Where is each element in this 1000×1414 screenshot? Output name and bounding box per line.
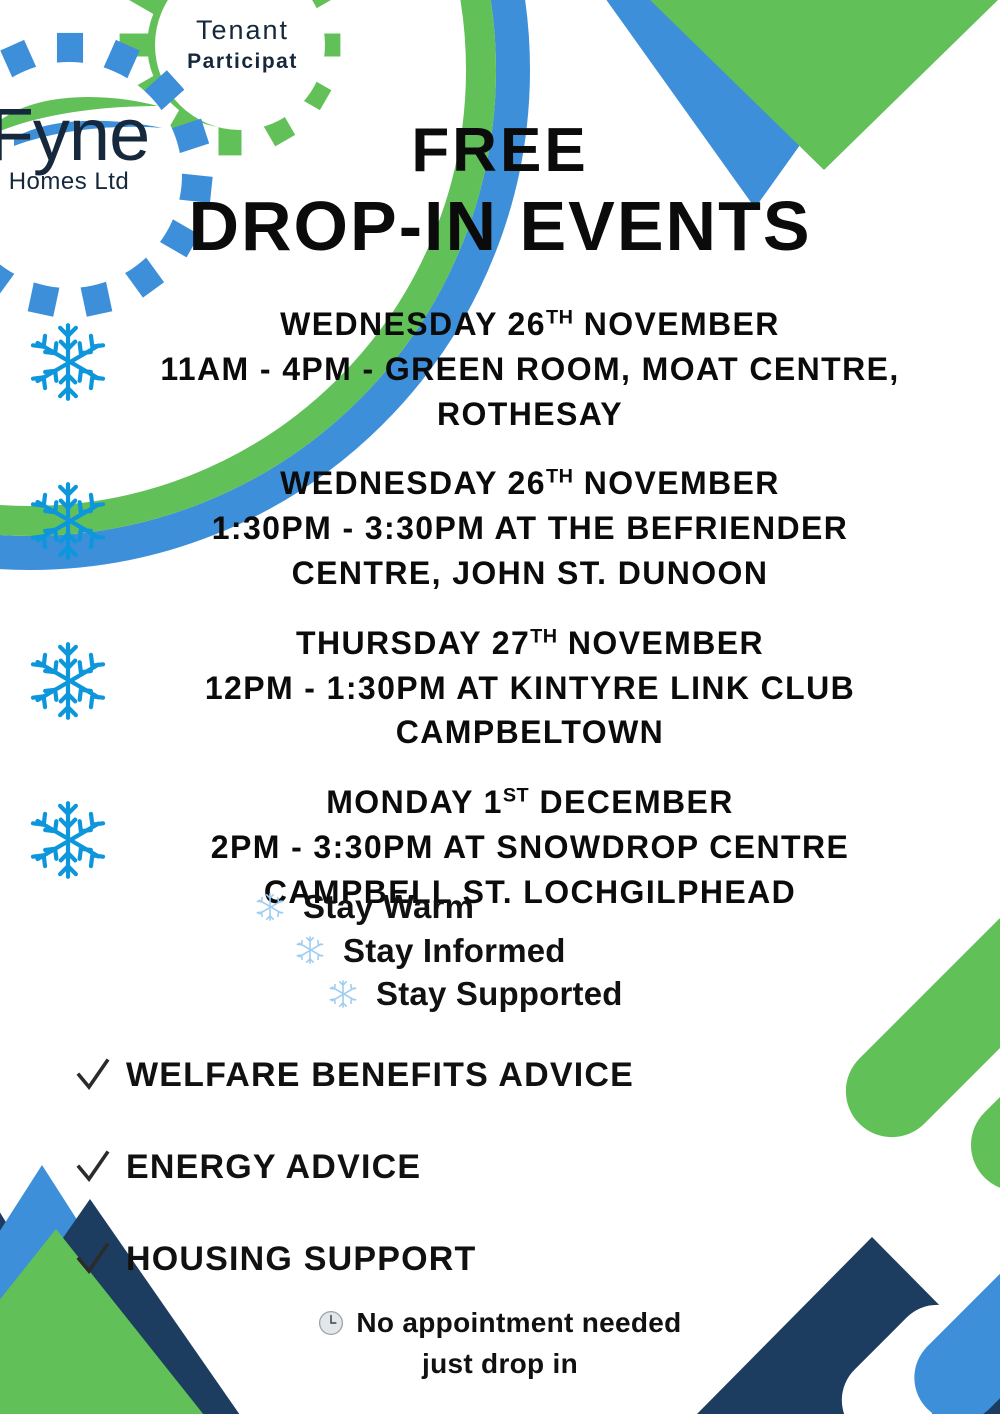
- checklist-label: WELFARE BENEFITS ADVICE: [126, 1056, 634, 1095]
- check-icon: [76, 1147, 110, 1187]
- checklist-label: ENERGY ADVICE: [126, 1148, 421, 1187]
- event-details-line-1: 1:30PM - 3:30PM AT THE BEFRIENDER: [130, 506, 930, 551]
- tp-line-2: Participat: [160, 48, 325, 76]
- event-details-line-1: 2PM - 3:30PM AT SNOWDROP CENTRE: [130, 825, 930, 870]
- snowflake-icon: [295, 935, 325, 965]
- page-title: FREE DROP-IN EVENTS: [0, 118, 1000, 271]
- event-text: WEDNESDAY 26TH NOVEMBER 11AM - 4PM - GRE…: [0, 302, 1000, 436]
- tp-line-1: Tenant: [160, 12, 325, 48]
- event-text: THURSDAY 27TH NOVEMBER 12PM - 1:30PM AT …: [0, 621, 1000, 755]
- services-checklist: WELFARE BENEFITS ADVICE ENERGY ADVICE HO…: [76, 1055, 634, 1331]
- poster-canvas: Tenant Participat Fyne Homes Ltd FREE DR…: [0, 0, 1000, 1414]
- stay-label: Stay Warm: [303, 885, 474, 929]
- checklist-label: HOUSING SUPPORT: [126, 1240, 476, 1279]
- footnote: No appointment needed just drop in: [0, 1303, 1000, 1384]
- event-details-line-2: CAMPBELTOWN: [130, 710, 930, 755]
- event-date: MONDAY 1ST DECEMBER: [130, 780, 930, 825]
- checklist-item: HOUSING SUPPORT: [76, 1239, 634, 1279]
- snowflake-icon: [255, 892, 285, 922]
- stay-messages: Stay Warm Stay Informed: [0, 885, 1000, 1016]
- event-text: WEDNESDAY 26TH NOVEMBER 1:30PM - 3:30PM …: [0, 461, 1000, 595]
- snowflake-icon: [26, 320, 110, 404]
- footnote-line-1-row: No appointment needed: [0, 1303, 1000, 1344]
- stay-label: Stay Informed: [343, 929, 566, 973]
- tenant-participation-disc: [155, 0, 325, 130]
- event-details-line-2: ROTHESAY: [130, 392, 930, 437]
- check-icon: [76, 1239, 110, 1279]
- bottom-right-green-bar-2: [952, 998, 1000, 1210]
- snowflake-icon: [328, 979, 358, 1009]
- events-list: WEDNESDAY 26TH NOVEMBER 11AM - 4PM - GRE…: [0, 302, 1000, 940]
- checklist-item: WELFARE BENEFITS ADVICE: [76, 1055, 634, 1095]
- event-item: WEDNESDAY 26TH NOVEMBER 1:30PM - 3:30PM …: [0, 461, 1000, 595]
- snowflake-icon: [26, 479, 110, 563]
- footnote-line-1: No appointment needed: [356, 1303, 681, 1344]
- stay-item: Stay Warm: [0, 885, 1000, 929]
- snowflake-icon: [26, 639, 110, 723]
- event-date: WEDNESDAY 26TH NOVEMBER: [130, 302, 930, 347]
- event-details-line-2: CENTRE, JOHN ST. DUNOON: [130, 551, 930, 596]
- stay-label: Stay Supported: [376, 972, 623, 1016]
- event-details-line-1: 12PM - 1:30PM AT KINTYRE LINK CLUB: [130, 666, 930, 711]
- headline-line-1: FREE: [0, 118, 1000, 183]
- headline-line-2: DROP-IN EVENTS: [0, 183, 1000, 271]
- event-date: THURSDAY 27TH NOVEMBER: [130, 621, 930, 666]
- event-item: THURSDAY 27TH NOVEMBER 12PM - 1:30PM AT …: [0, 621, 1000, 755]
- tenant-participation-label: Tenant Participat: [160, 12, 325, 77]
- stay-item: Stay Supported: [0, 972, 1000, 1016]
- snowflake-icon: [26, 798, 110, 882]
- event-date: WEDNESDAY 26TH NOVEMBER: [130, 461, 930, 506]
- event-item: WEDNESDAY 26TH NOVEMBER 11AM - 4PM - GRE…: [0, 302, 1000, 436]
- check-icon: [76, 1055, 110, 1095]
- checklist-item: ENERGY ADVICE: [76, 1147, 634, 1187]
- clock-icon: [318, 1310, 344, 1336]
- event-details-line-1: 11AM - 4PM - GREEN ROOM, MOAT CENTRE,: [130, 347, 930, 392]
- stay-item: Stay Informed: [0, 929, 1000, 973]
- footnote-line-2: just drop in: [0, 1344, 1000, 1385]
